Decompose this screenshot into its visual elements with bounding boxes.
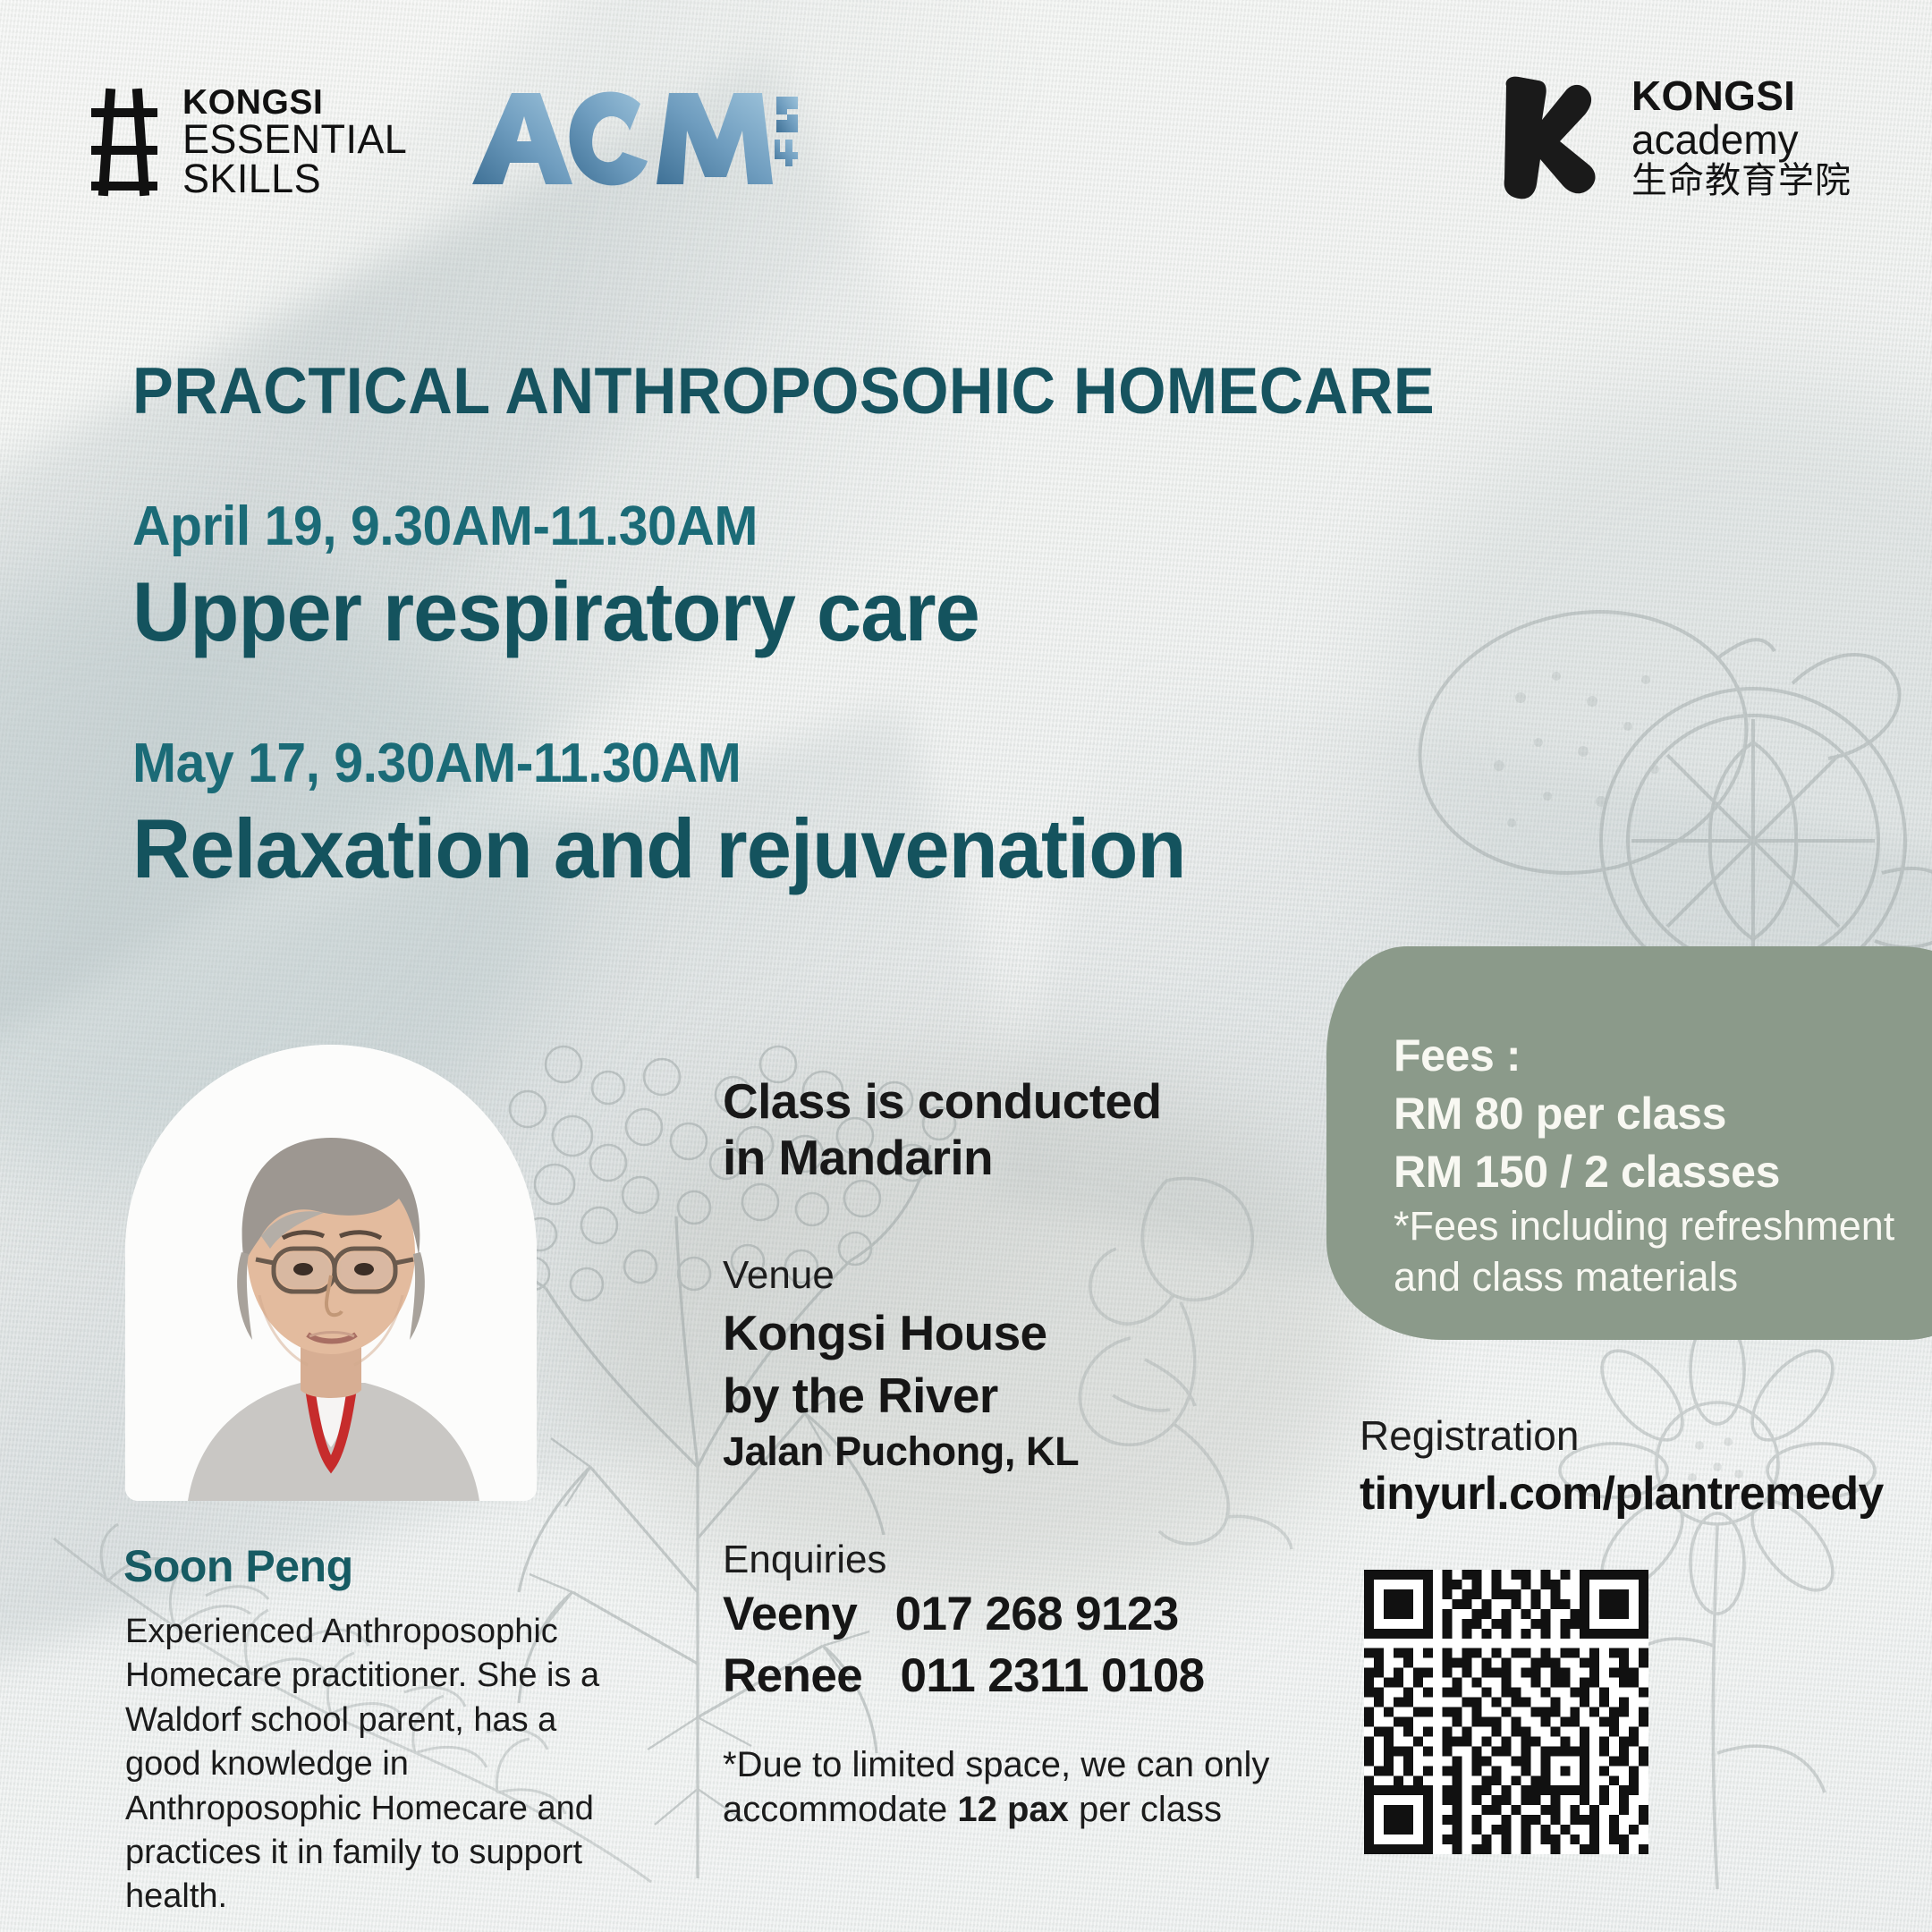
fees-line-2: RM 150 / 2 classes (1394, 1143, 1932, 1201)
kongsi-k-mark-icon (1496, 70, 1608, 204)
ka-line-2: academy (1631, 118, 1851, 162)
page-title: PRACTICAL ANTHROPOSOHIC HOMECARE (132, 354, 1435, 428)
kes-line-2: ESSENTIAL (182, 120, 407, 159)
contact-row[interactable]: Veeny 017 268 9123 (723, 1584, 1313, 1646)
fees-content: Fees : RM 80 per class RM 150 / 2 classe… (1394, 1027, 1932, 1302)
contact-name: Veeny (723, 1588, 857, 1640)
poster-canvas: KONGSI ESSENTIAL SKILLS (0, 0, 1932, 1932)
ka-line-3: 生命教育学院 (1631, 162, 1851, 199)
presenter-portrait-image (125, 1045, 537, 1501)
kes-line-1: KONGSI (182, 86, 407, 120)
venue-line-2: by the River (723, 1368, 1277, 1425)
session-2: May 17, 9.30AM-11.30AM Relaxation and re… (132, 732, 1230, 897)
kes-line-3: SKILLS (182, 159, 407, 199)
logo-row: KONGSI ESSENTIAL SKILLS (0, 0, 1932, 241)
fees-note-1: *Fees including refreshment (1394, 1201, 1932, 1252)
language-note: Class is conducted in Mandarin (723, 1073, 1259, 1185)
venue-label: Venue (723, 1252, 1277, 1300)
contact-phone[interactable]: 011 2311 0108 (900, 1649, 1204, 1702)
session-1: April 19, 9.30AM-11.30AM Upper respirato… (132, 495, 1014, 660)
venue-line-1: Kongsi House (723, 1305, 1277, 1362)
qr-code-image (1364, 1570, 1648, 1854)
fees-label: Fees : (1394, 1027, 1932, 1085)
kongsi-essential-skills-logo: KONGSI ESSENTIAL SKILLS (89, 85, 407, 199)
capacity-note-count: 12 pax (957, 1790, 1069, 1829)
contact-row[interactable]: Renee 011 2311 0108 (723, 1646, 1313, 1707)
fees-note-2: and class materials (1394, 1252, 1932, 1303)
kongsi-academy-logo: KONGSI academy 生命教育学院 (1496, 70, 1851, 204)
capacity-note-post: per class (1069, 1790, 1222, 1829)
registration-label: Registration (1360, 1411, 1579, 1460)
session-1-topic: Upper respiratory care (132, 563, 979, 660)
registration-qr-code[interactable] (1364, 1570, 1648, 1854)
ladder-icon (89, 85, 159, 199)
presenter-bio: Experienced Anthroposophic Homecare prac… (125, 1610, 626, 1919)
language-line-1: Class is conducted (723, 1073, 1259, 1130)
registration-url[interactable]: tinyurl.com/plantremedy (1360, 1467, 1884, 1521)
enquiries-block: Enquiries Veeny 017 268 9123 Renee 011 2… (723, 1537, 1313, 1707)
session-2-topic: Relaxation and rejuvenation (132, 801, 1186, 897)
fees-line-1: RM 80 per class (1394, 1085, 1932, 1143)
ka-line-1: KONGSI (1631, 74, 1851, 118)
language-line-2: in Mandarin (723, 1130, 1259, 1186)
contact-name: Renee (723, 1649, 862, 1702)
contact-phone[interactable]: 017 268 9123 (895, 1588, 1179, 1640)
acm-2024-logo (465, 79, 805, 204)
venue-block: Venue Kongsi House by the River Jalan Pu… (723, 1252, 1277, 1475)
presenter-name: Soon Peng (123, 1540, 353, 1592)
presenter-photo (125, 1045, 537, 1501)
session-1-date: April 19, 9.30AM-11.30AM (132, 495, 970, 558)
session-2-date: May 17, 9.30AM-11.30AM (132, 732, 1174, 795)
venue-line-3: Jalan Puchong, KL (723, 1428, 1277, 1475)
enquiries-label: Enquiries (723, 1537, 1313, 1584)
capacity-note: *Due to limited space, we can only accom… (723, 1742, 1331, 1833)
